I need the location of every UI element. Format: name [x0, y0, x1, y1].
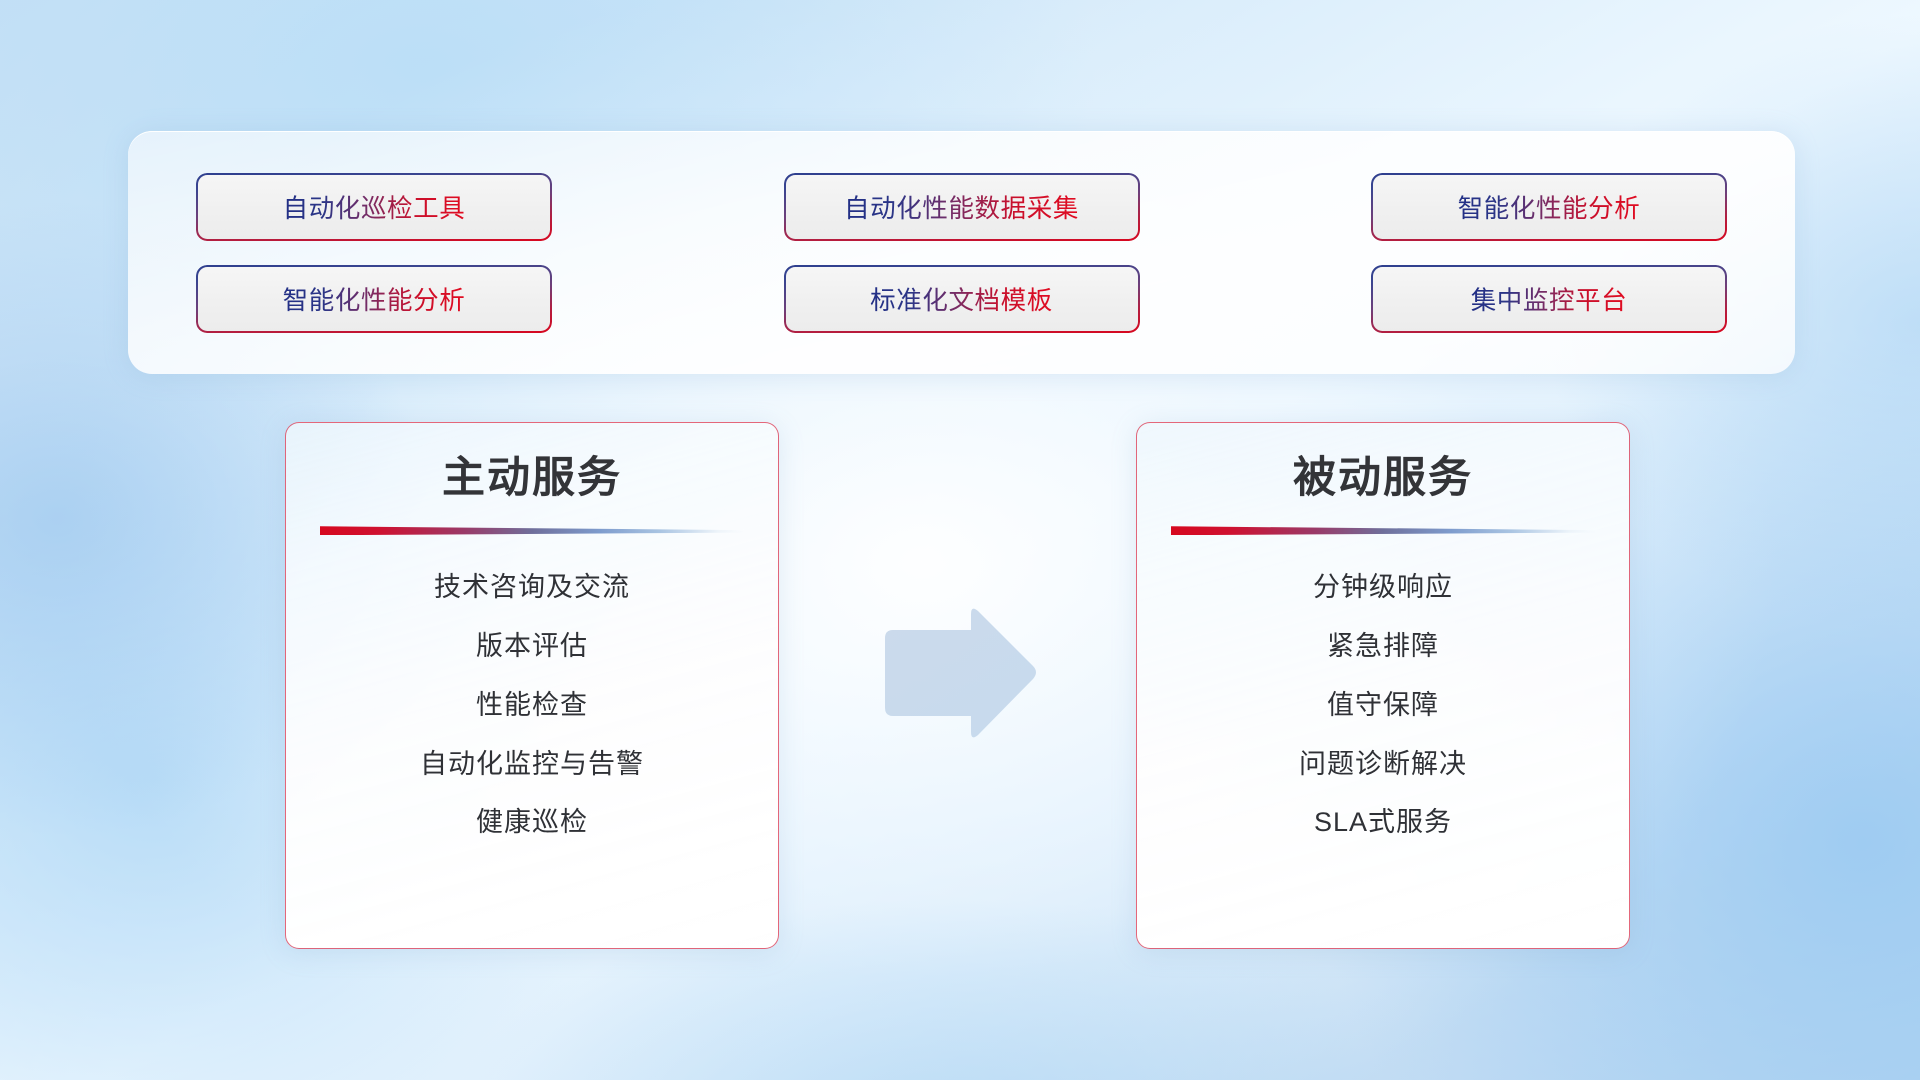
- service-card-proactive: 主动服务 技术咨询及交流 版本评估 性能检查 自动化监控与告警 健康巡检: [285, 422, 779, 949]
- list-item: 健康巡检: [310, 806, 754, 840]
- card-accent-rule: [320, 526, 744, 535]
- capability-pill-automated-performance-data-collection[interactable]: 自动化性能数据采集: [784, 173, 1140, 241]
- service-card-reactive: 被动服务 分钟级响应 紧急排障 值守保障 问题诊断解决 SLA式服务: [1136, 422, 1630, 949]
- capability-pill-label: 智能化性能分析: [1458, 188, 1641, 225]
- list-item: 分钟级响应: [1161, 571, 1605, 605]
- capability-pill-label: 智能化性能分析: [283, 280, 466, 317]
- capability-row-2: 智能化性能分析 标准化文档模板 集中监控平台: [196, 265, 1727, 333]
- capability-pill-intelligent-performance-analysis-top[interactable]: 智能化性能分析: [1371, 173, 1727, 241]
- list-item: 技术咨询及交流: [310, 571, 754, 605]
- service-list-proactive: 技术咨询及交流 版本评估 性能检查 自动化监控与告警 健康巡检: [286, 571, 778, 840]
- list-item: 性能检查: [310, 689, 754, 723]
- list-item: 紧急排障: [1161, 630, 1605, 664]
- card-accent-rule: [1171, 526, 1595, 535]
- service-list-reactive: 分钟级响应 紧急排障 值守保障 问题诊断解决 SLA式服务: [1137, 571, 1629, 840]
- list-item: 版本评估: [310, 630, 754, 664]
- capability-panel: 自动化巡检工具 自动化性能数据采集 智能化性能分析 智能化性能分析 标准化文档模…: [128, 131, 1795, 374]
- card-title-proactive: 主动服务: [286, 455, 778, 502]
- capability-pill-intelligent-performance-analysis-bottom[interactable]: 智能化性能分析: [196, 265, 552, 333]
- list-item: 问题诊断解决: [1161, 748, 1605, 782]
- capability-row-1: 自动化巡检工具 自动化性能数据采集 智能化性能分析: [196, 173, 1727, 241]
- capability-pill-automated-inspection-tool[interactable]: 自动化巡检工具: [196, 173, 552, 241]
- list-item: SLA式服务: [1161, 806, 1605, 840]
- capability-pill-label: 自动化性能数据采集: [844, 188, 1079, 225]
- capability-pill-label: 标准化文档模板: [870, 280, 1053, 317]
- capability-pill-centralized-monitoring-platform[interactable]: 集中监控平台: [1371, 265, 1727, 333]
- capability-pill-standardized-document-template[interactable]: 标准化文档模板: [784, 265, 1140, 333]
- capability-pill-label: 自动化巡检工具: [283, 188, 466, 225]
- capability-pill-label: 集中监控平台: [1471, 280, 1628, 317]
- list-item: 自动化监控与告警: [310, 748, 754, 782]
- arrow-right-icon: [877, 604, 1039, 744]
- card-title-reactive: 被动服务: [1137, 455, 1629, 502]
- list-item: 值守保障: [1161, 689, 1605, 723]
